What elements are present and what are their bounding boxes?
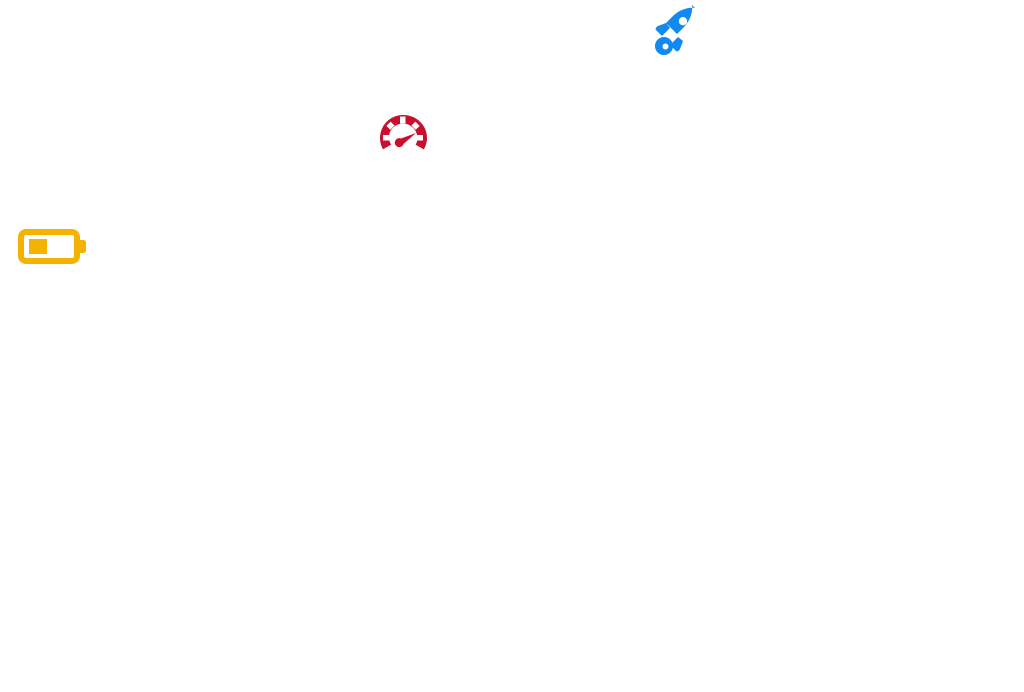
annotation-forme [650, 4, 712, 61]
rocket-icon [650, 4, 702, 61]
annotation-performance [378, 112, 438, 161]
infographic-chart [0, 0, 1024, 692]
battery-icon [18, 224, 88, 273]
annotation-fatigue [18, 224, 98, 273]
chart-canvas [0, 0, 1024, 692]
gauge-icon [378, 112, 428, 161]
